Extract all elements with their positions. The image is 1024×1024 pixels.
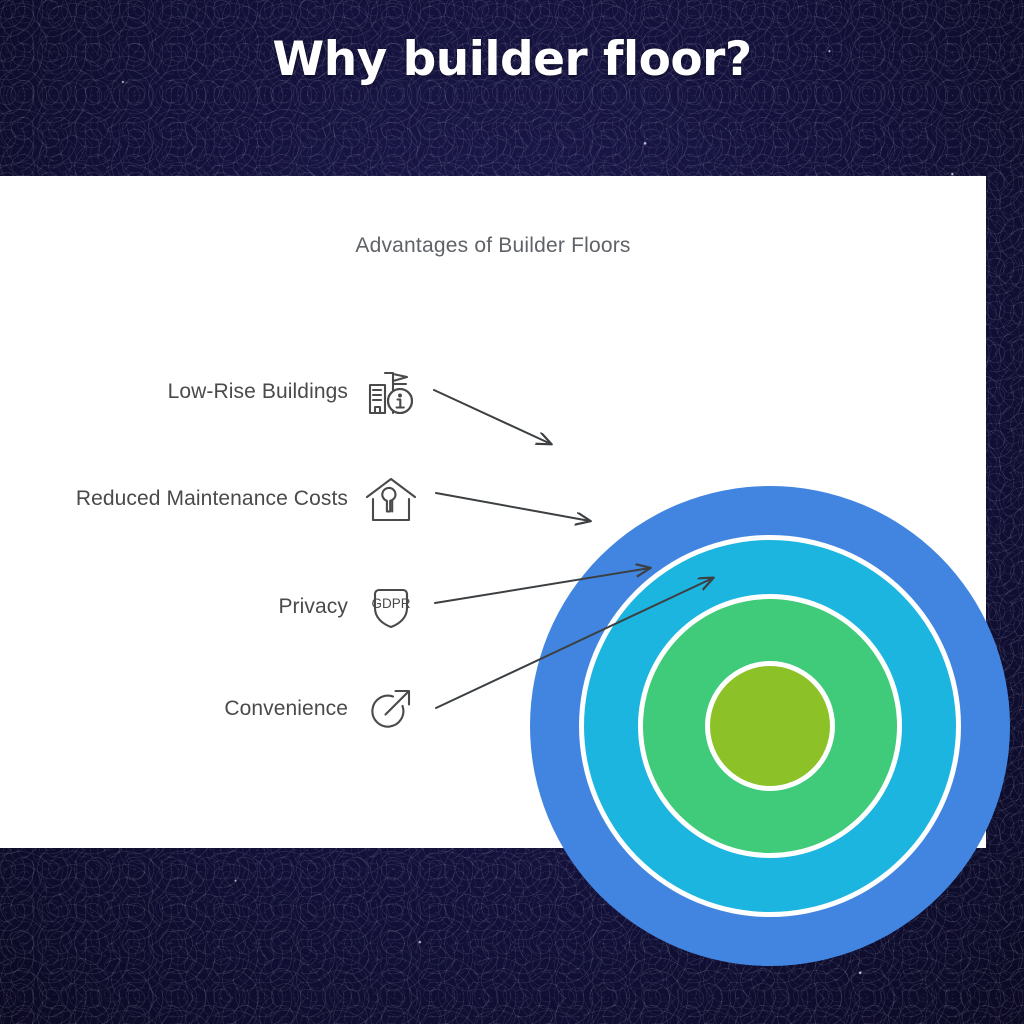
- slide-canvas: Why builder floor? Advantages of Builder…: [0, 0, 1024, 1024]
- legend-item-low-rise-buildings[interactable]: Low-Rise Buildings: [0, 362, 420, 422]
- gdpr-shield-icon: GDPR: [362, 578, 420, 636]
- legend-item-reduced-maintenance-costs[interactable]: Reduced Maintenance Costs: [0, 469, 420, 529]
- legend-item-convenience[interactable]: Convenience: [0, 679, 420, 739]
- legend-label: Reduced Maintenance Costs: [76, 487, 362, 511]
- legend-item-privacy[interactable]: Privacy GDPR: [0, 577, 420, 637]
- footer-starfield-strip: [0, 848, 1024, 1024]
- legend-label: Privacy: [278, 595, 362, 619]
- house-wrench-icon: [362, 470, 420, 528]
- legend-label: Convenience: [224, 697, 362, 721]
- page-title: Why builder floor?: [0, 32, 1024, 87]
- legend-label: Low-Rise Buildings: [168, 380, 362, 404]
- building-info-icon: [362, 363, 420, 421]
- ring-convenience[interactable]: [710, 666, 830, 786]
- arrow-low-rise-buildings: [434, 390, 551, 444]
- gdpr-icon-text: GDPR: [371, 596, 410, 611]
- infographic-panel: Advantages of Builder Floors L: [0, 176, 986, 848]
- growth-arrow-icon: [362, 680, 420, 738]
- chart-title: Advantages of Builder Floors: [0, 234, 986, 258]
